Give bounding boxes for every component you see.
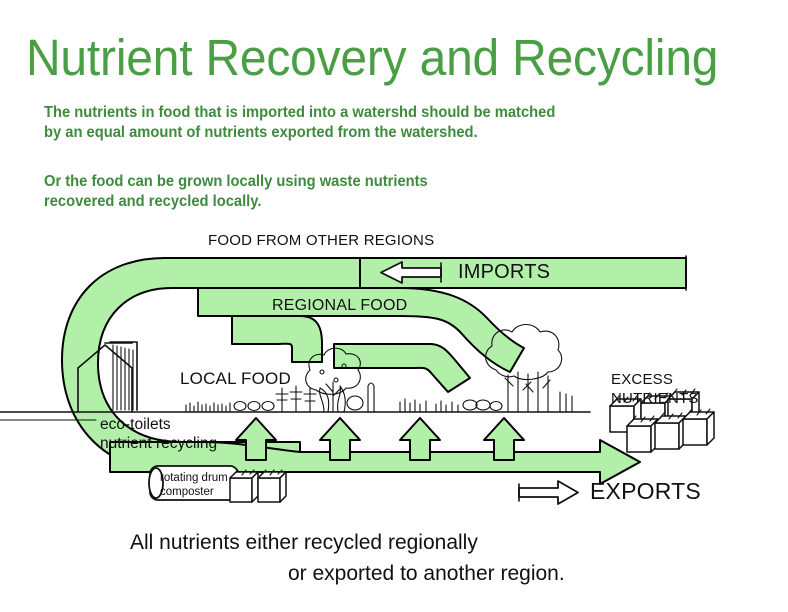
bushes-icon	[234, 402, 274, 411]
shrub-row-icon	[400, 399, 502, 412]
label-exports: EXPORTS	[590, 478, 701, 505]
label-rotating-drum-composter: rotating drum composter	[160, 471, 228, 499]
label-local-food: LOCAL FOOD	[180, 369, 291, 389]
label-eco-toilets-nutrient-recycling: eco-toilets nutrient recycling	[100, 415, 217, 453]
caption-line-2: or exported to another region.	[288, 562, 565, 586]
grass-icon	[186, 402, 230, 412]
regional-branch-band	[334, 344, 470, 392]
local-food-flow-band	[232, 316, 322, 362]
label-excess-nutrients: EXCESS NUTRIENTS	[611, 370, 699, 408]
label-imports: IMPORTS	[458, 261, 550, 284]
compost-sacks-icon	[230, 470, 286, 502]
label-regional-food: REGIONAL FOOD	[272, 297, 407, 315]
caption-line-1: All nutrients either recycled regionally	[130, 531, 478, 555]
exports-arrow-right-icon	[519, 481, 578, 504]
label-food-from-other-regions: FOOD FROM OTHER REGIONS	[208, 232, 434, 249]
